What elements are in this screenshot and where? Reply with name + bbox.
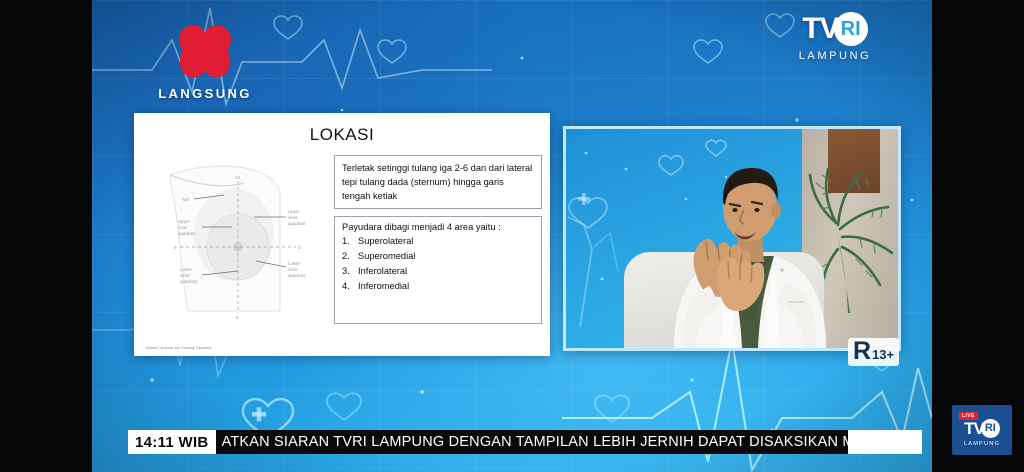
channel-corner-logo: LIVE TV RI LAMPUNG <box>952 405 1012 455</box>
ticker-time: 14:11 WIB <box>128 430 216 454</box>
letterbox-right <box>932 0 1024 472</box>
ticker-text: ATKAN SIARAN TVRI LAMPUNG DENGAN TAMPILA… <box>216 430 848 454</box>
list-item-number: 4. <box>342 281 358 291</box>
list-item-number: 3. <box>342 266 358 276</box>
svg-text:9: 9 <box>174 245 177 250</box>
news-ticker: 14:11 WIB ATKAN SIARAN TVRI LAMPUNG DENG… <box>128 430 922 454</box>
svg-text:3: 3 <box>298 245 301 250</box>
svg-text:Tail: Tail <box>182 197 189 202</box>
rating-number: 13+ <box>872 348 894 361</box>
live-badge: LANGSUNG <box>140 22 270 101</box>
list-item-label: Inferomedial <box>358 281 409 291</box>
list-item-number: 1. <box>342 236 358 246</box>
presentation-slide: LOKASI 123 69 Tail Upperinnerquadrant <box>134 113 550 356</box>
svg-text:quadrant: quadrant <box>288 221 306 226</box>
list-item-label: Inferolateral <box>358 266 407 276</box>
breast-quadrant-anatomy-diagram-icon: 123 69 Tail Upperinnerquadrant Upperinne… <box>146 161 324 321</box>
list-item: 2. Superomedial <box>342 251 534 261</box>
svg-text:Upper: Upper <box>288 209 300 214</box>
ticker-end-block <box>848 430 922 454</box>
list-item: 3. Inferolateral <box>342 266 534 276</box>
svg-text:6: 6 <box>236 315 239 320</box>
slide-title: LOKASI <box>134 125 550 145</box>
live-tag: LIVE <box>959 412 978 420</box>
slide-text-box-location: Terletak setinggi tulang iga 2-6 dan dar… <box>334 155 542 209</box>
svg-text:12: 12 <box>235 175 240 180</box>
list-item-label: Superomedial <box>358 251 415 261</box>
list-item: 4. Inferomedial <box>342 281 534 291</box>
awareness-ribbon-icon <box>177 22 233 80</box>
svg-text:Lower: Lower <box>288 261 300 266</box>
studio-video-feed <box>563 126 901 351</box>
tvri-corner-logo-icon: TV RI <box>964 419 1000 438</box>
rating-letter: R <box>853 339 871 364</box>
svg-text:inner: inner <box>288 267 298 272</box>
slide-box2-heading: Payudara dibagi menjadi 4 area yaitu : <box>342 222 534 232</box>
svg-text:inner: inner <box>180 273 190 278</box>
tvri-logo-icon: TV RI <box>775 12 895 46</box>
quadrant-list: 1. Superolateral 2. Superomedial 3. Infe… <box>342 236 534 291</box>
svg-text:Upper: Upper <box>178 219 190 224</box>
live-badge-label: LANGSUNG <box>140 86 270 101</box>
slide-body: 123 69 Tail Upperinnerquadrant Upperinne… <box>134 153 550 356</box>
svg-text:inner: inner <box>288 215 298 220</box>
svg-text:quadrant: quadrant <box>288 273 306 278</box>
list-item-number: 2. <box>342 251 358 261</box>
svg-text:Lower: Lower <box>180 267 192 272</box>
channel-region-label: LAMPUNG <box>775 50 895 62</box>
slide-credit-line: Sumber: Anatomi dan Fisiologi Payudara <box>146 345 211 350</box>
svg-text:quadrant: quadrant <box>180 279 198 284</box>
letterbox-left <box>0 0 92 472</box>
tvri-corner-region: LAMPUNG <box>964 441 1000 447</box>
guest-doctor-figure <box>662 152 838 348</box>
content-rating-badge: R 13+ <box>848 338 899 366</box>
tvri-corner-ri: RI <box>981 419 1000 438</box>
tvri-logo-ri: RI <box>834 12 868 46</box>
svg-text:quadrant: quadrant <box>178 231 196 236</box>
list-item-label: Superolateral <box>358 236 413 246</box>
slide-box1-text: Terletak setinggi tulang iga 2-6 dan dar… <box>342 161 534 203</box>
list-item: 1. Superolateral <box>342 236 534 246</box>
svg-text:inner: inner <box>178 225 188 230</box>
channel-watermark: TV RI LAMPUNG <box>775 12 895 62</box>
broadcast-screen: LANGSUNG TV RI LAMPUNG R 13+ LOKASI <box>0 0 1024 472</box>
slide-text-box-quadrants: Payudara dibagi menjadi 4 area yaitu : 1… <box>334 216 542 324</box>
